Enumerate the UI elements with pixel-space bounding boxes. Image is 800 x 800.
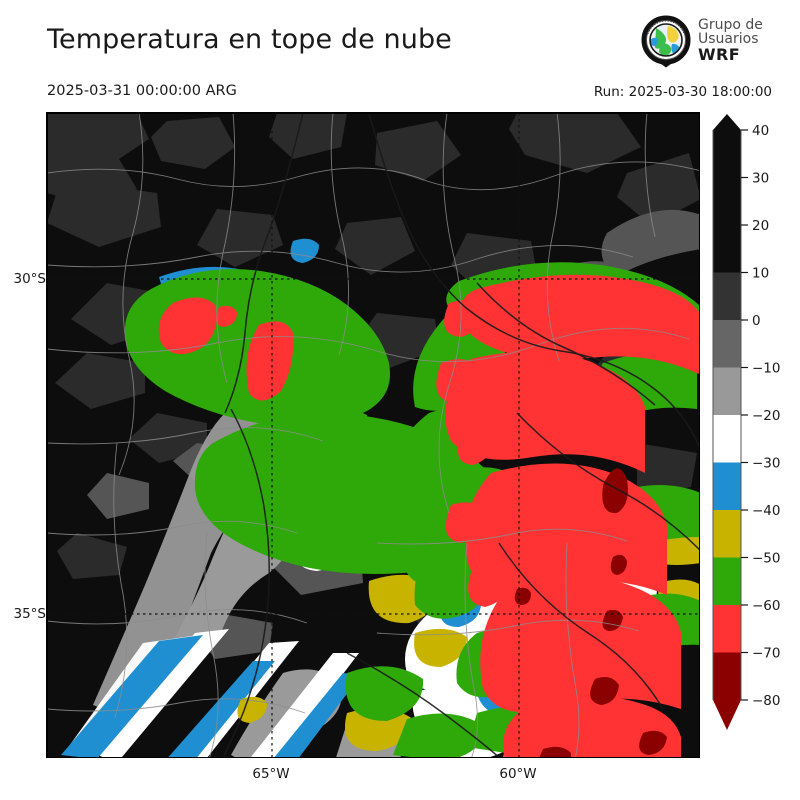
y-axis-tick-35s: 35°S bbox=[14, 606, 47, 622]
cb-label-m70: −70 bbox=[752, 646, 781, 662]
logo-line-1: Grupo de bbox=[698, 18, 763, 32]
band-m50-m40 bbox=[713, 510, 741, 558]
cb-label-40: 40 bbox=[752, 123, 769, 139]
x-axis-tick-65w: 65°W bbox=[252, 766, 289, 782]
band-m20-m10 bbox=[713, 368, 741, 416]
colorbar-svg: 40 30 20 10 0 −10 −20 −30 −40 −50 −60 −7… bbox=[705, 112, 800, 762]
logo-text: Grupo de Usuarios WRF bbox=[698, 18, 763, 63]
band-m10-0 bbox=[713, 320, 741, 368]
model-run-label: Run: 2025-03-30 18:00:00 bbox=[594, 84, 772, 100]
cb-label-m60: −60 bbox=[752, 598, 781, 614]
colorbar-tick-labels: 40 30 20 10 0 −10 −20 −30 −40 −50 −60 −7… bbox=[752, 123, 781, 709]
logo-line-3: WRF bbox=[698, 47, 763, 63]
band-0-10 bbox=[713, 273, 741, 321]
cloud-top-temperature-figure: Temperatura en tope de nube 2025-03-31 0… bbox=[0, 0, 800, 800]
cb-label-m40: −40 bbox=[752, 503, 781, 519]
y-axis-tick-30s: 30°S bbox=[14, 271, 47, 287]
x-axis-tick-60w: 60°W bbox=[499, 766, 536, 782]
colorbar-under-arrow bbox=[713, 700, 741, 730]
cb-label-m50: −50 bbox=[752, 551, 781, 567]
band-m80-m70 bbox=[713, 653, 741, 701]
band-10-40 bbox=[713, 130, 741, 273]
band-m40-m30 bbox=[713, 463, 741, 511]
colorbar-ticks bbox=[741, 130, 748, 700]
page-title: Temperatura en tope de nube bbox=[47, 24, 452, 55]
cb-label-10: 10 bbox=[752, 266, 769, 282]
band-m30-m20 bbox=[713, 415, 741, 463]
cb-label-m80: −80 bbox=[752, 693, 781, 709]
valid-time-label: 2025-03-31 00:00:00 ARG bbox=[47, 83, 237, 99]
cb-label-30: 30 bbox=[752, 171, 769, 187]
band-m60-m50 bbox=[713, 558, 741, 606]
cb-label-0: 0 bbox=[752, 313, 761, 329]
colorbar[interactable]: 40 30 20 10 0 −10 −20 −30 −40 −50 −60 −7… bbox=[705, 112, 800, 762]
colorbar-bands bbox=[713, 114, 741, 730]
cb-label-m30: −30 bbox=[752, 456, 781, 472]
cb-label-20: 20 bbox=[752, 218, 769, 234]
cloud-top-temperature-map bbox=[47, 113, 700, 758]
cb-label-m10: −10 bbox=[752, 361, 781, 377]
wrf-globe-emblem-icon bbox=[638, 14, 694, 70]
logo: Grupo de Usuarios WRF bbox=[638, 12, 796, 74]
map-panel[interactable] bbox=[46, 112, 700, 758]
colorbar-over-arrow bbox=[713, 114, 741, 130]
cb-label-m20: −20 bbox=[752, 408, 781, 424]
band-m70-m60 bbox=[713, 605, 741, 653]
